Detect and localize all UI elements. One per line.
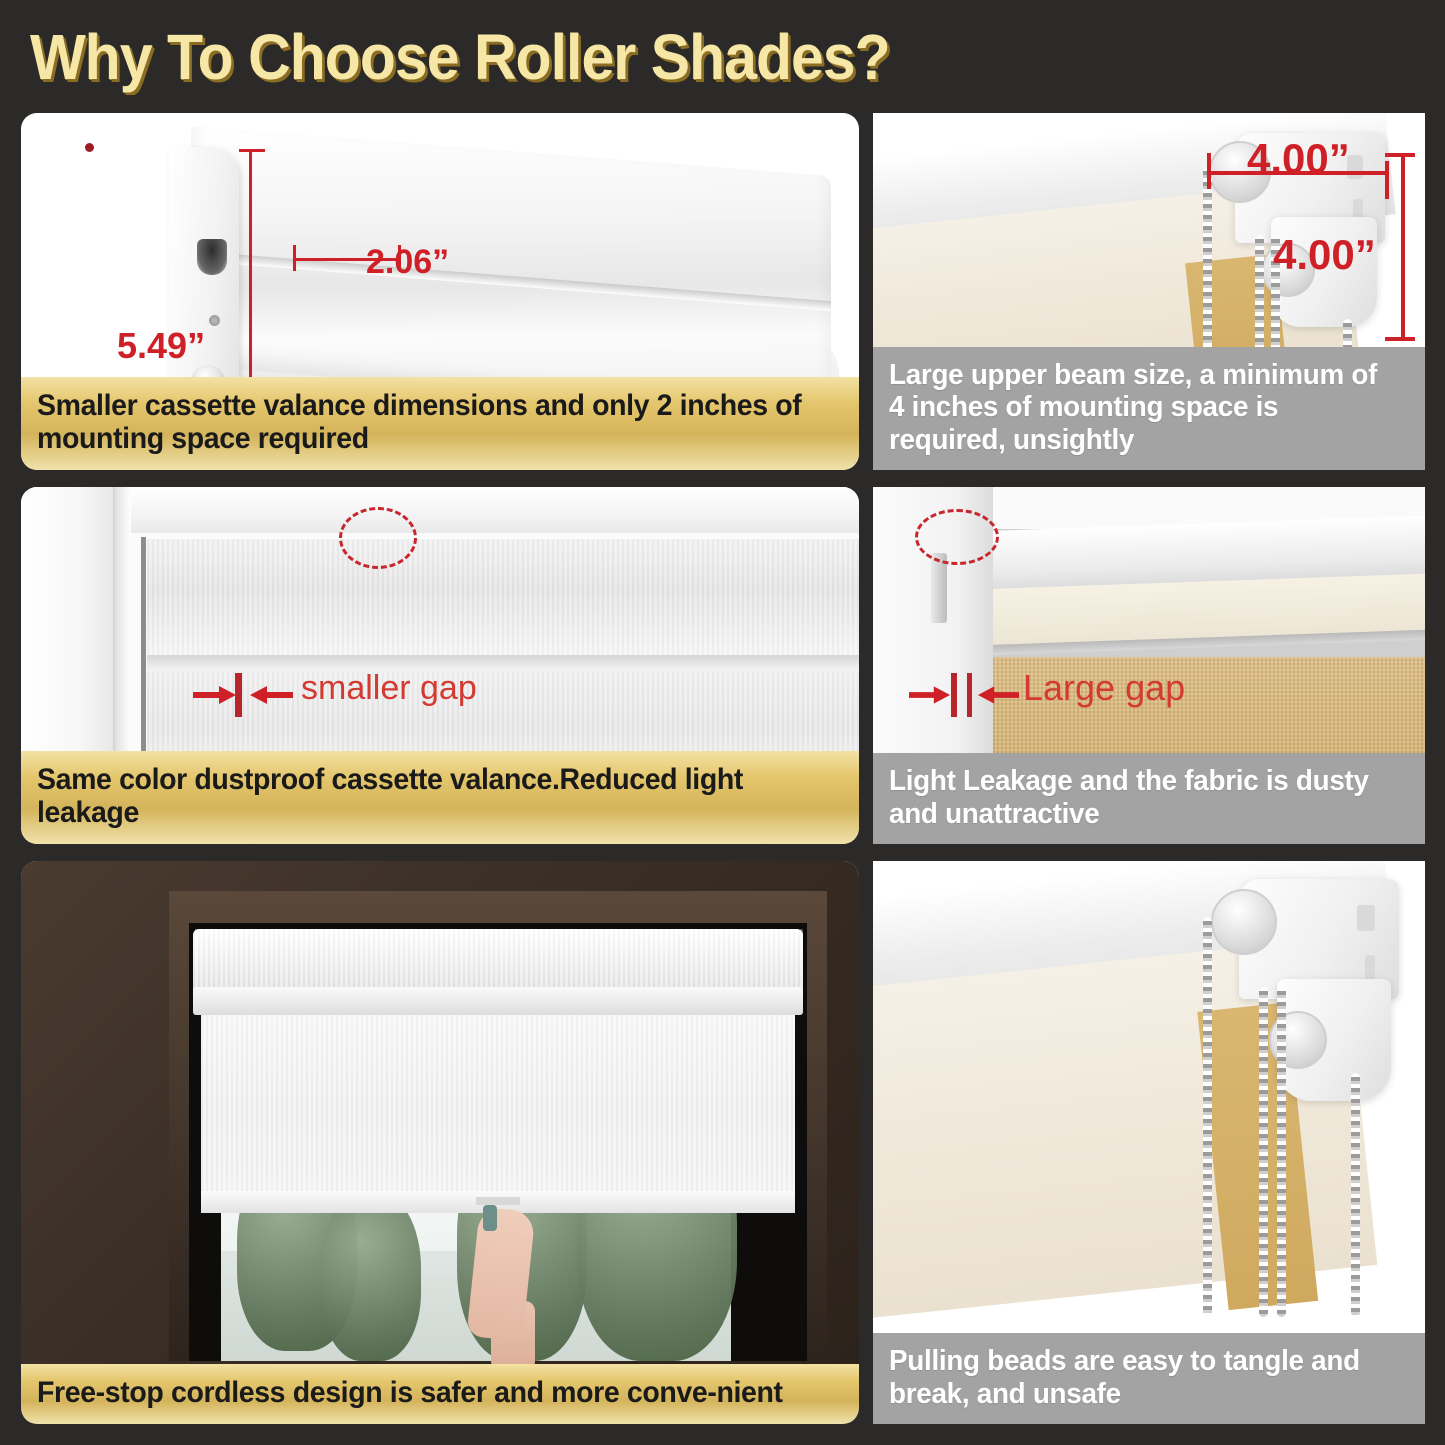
beam-width-tick-right: [1385, 161, 1389, 199]
bead-chain-2[interactable]: [1259, 987, 1268, 1317]
gap-arrow-right-icon: [909, 683, 951, 707]
cassette-valance: [193, 929, 803, 993]
beam-width-tick-left: [1207, 153, 1211, 189]
panel-2-caption-text: Large upper beam size, a minimum of 4 in…: [889, 359, 1388, 456]
valance-body-shape: [191, 126, 831, 416]
bead-chain-3[interactable]: [1277, 987, 1286, 1317]
panel-5-image: [21, 861, 859, 1424]
panel-smaller-cassette[interactable]: 5.49” 2.06” Smaller cassette valance dim…: [21, 113, 859, 470]
gap-marker-bar-b: [967, 673, 972, 717]
cassette-valance-lip: [193, 987, 803, 1015]
window-head-trim: [131, 487, 859, 533]
height-dimension-label: 5.49”: [117, 325, 205, 367]
comparison-grid: 5.49” 2.06” Smaller cassette valance dim…: [0, 0, 1445, 1445]
gap-arrow-left-icon: [977, 683, 1019, 707]
panel-3-caption-text: Same color dustproof cassette valance.Re…: [37, 763, 803, 830]
beam-height-tick-bottom: [1385, 337, 1415, 341]
panel-1-caption: Smaller cassette valance dimensions and …: [21, 377, 859, 470]
bracket-slot-icon: [197, 239, 227, 275]
shade-middle-rail: [147, 655, 859, 671]
panel-large-upper-beam[interactable]: 4.00” 4.00” Large upper beam size, a min…: [873, 113, 1425, 470]
beam-width-label: 4.00”: [1247, 135, 1350, 183]
panel-4-caption-text: Light Leakage and the fabric is dusty an…: [889, 765, 1388, 830]
panel-2-caption: Large upper beam size, a minimum of 4 in…: [873, 347, 1425, 470]
large-gap-label: Large gap: [1023, 667, 1185, 709]
width-dim-tick-left: [293, 245, 296, 271]
width-dimension-label: 2.06”: [366, 243, 449, 282]
bracket-lug-a: [1357, 905, 1375, 931]
shade-upper-slat: [147, 539, 859, 657]
measure-origin-dot-icon: [85, 143, 94, 152]
shade-pull-tab[interactable]: [476, 1197, 520, 1205]
panel-6-caption: Pulling beads are easy to tangle and bre…: [873, 1333, 1425, 1424]
panel-dustproof-cassette[interactable]: smaller gap Same color dustproof cassett…: [21, 487, 859, 844]
panel-5-caption-text: Free-stop cordless design is safer and m…: [37, 1376, 803, 1410]
panel-4-caption: Light Leakage and the fabric is dusty an…: [873, 753, 1425, 844]
highlight-circle-icon: [339, 507, 417, 569]
gap-marker-bar-a: [951, 673, 957, 717]
beads-roller-upper: [1211, 889, 1277, 955]
beam-height-dim-line: [1401, 153, 1405, 341]
beam-height-label: 4.00”: [1273, 231, 1376, 279]
panel-5-caption: Free-stop cordless design is safer and m…: [21, 1364, 859, 1424]
panel-cordless-design[interactable]: Free-stop cordless design is safer and m…: [21, 861, 859, 1424]
bracket-screw-icon: [209, 315, 220, 326]
highlight-circle-icon: [915, 509, 999, 565]
panel-3-caption: Same color dustproof cassette valance.Re…: [21, 751, 859, 844]
panel-pulling-beads[interactable]: Pulling beads are easy to tangle and bre…: [873, 861, 1425, 1424]
beam-height-tick-top: [1385, 153, 1415, 157]
tree-left-2: [321, 1191, 421, 1361]
gap-arrow-left-icon: [249, 683, 293, 707]
panel-light-leakage[interactable]: Large gap Light Leakage and the fabric i…: [873, 487, 1425, 844]
gap-arrow-right-icon: [193, 683, 237, 707]
panel-1-caption-text: Smaller cassette valance dimensions and …: [37, 389, 803, 456]
shade-grip-handle[interactable]: [483, 1205, 497, 1231]
window-left-jamb: [21, 487, 131, 787]
bead-chain-4[interactable]: [1351, 1073, 1360, 1317]
bead-chain-1[interactable]: [1203, 917, 1212, 1317]
shade-edge-gap: [141, 537, 146, 787]
height-dim-tick-top: [239, 149, 265, 152]
panel-6-caption-text: Pulling beads are easy to tangle and bre…: [889, 1345, 1388, 1410]
smaller-gap-label: smaller gap: [301, 669, 477, 708]
roller-shade-fabric: [201, 1011, 795, 1211]
